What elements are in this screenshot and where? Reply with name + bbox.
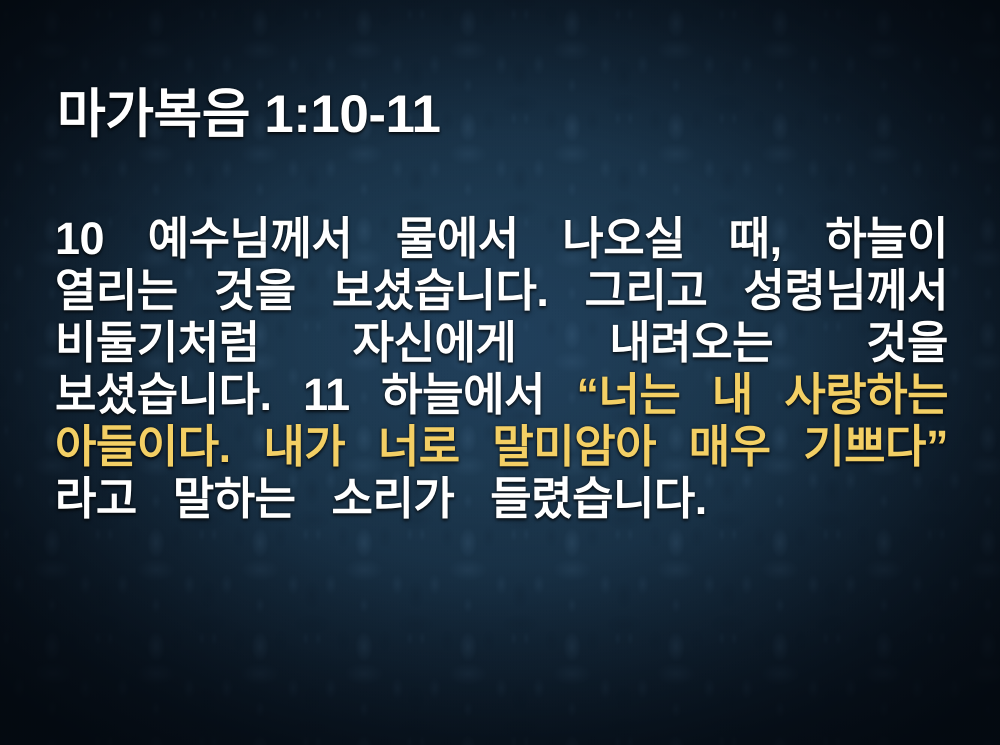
word: 열리는	[55, 265, 178, 317]
scripture-line-3: 비둘기처럼 자신에게 내려오는 것을	[55, 317, 948, 369]
word: 라고	[55, 473, 137, 525]
word: 것을	[866, 317, 948, 369]
word: 하늘에서	[381, 369, 545, 421]
word: 때,	[729, 213, 782, 265]
scripture-line-4: 보셨습니다. 11 하늘에서 “너는 내 사랑하는	[55, 369, 948, 421]
word: 성령님께서	[743, 265, 948, 317]
slide-title: 마가복음 1:10-11	[57, 87, 441, 143]
quoted-word: 매우	[689, 421, 771, 473]
scripture-line-2: 열리는 것을 보셨습니다. 그리고 성령님께서	[55, 265, 948, 317]
word: 11	[303, 369, 350, 421]
word: 10	[55, 213, 104, 265]
quoted-word: 내가	[263, 421, 345, 473]
quoted-word: 사랑하는	[784, 369, 948, 421]
scripture-line-6: 라고 말하는 소리가 들렸습니다.	[55, 473, 948, 525]
quoted-word: 기쁘다”	[803, 421, 948, 473]
scripture-line-5: 아들이다. 내가 너로 말미암아 매우 기쁘다”	[55, 421, 948, 473]
word: 내려오는	[609, 317, 773, 369]
scripture-body: 10 예수님께서 물에서 나오실 때, 하늘이 열리는 것을 보셨습니다. 그리…	[55, 213, 948, 525]
word: 나오실	[562, 213, 685, 265]
quoted-word: “너는	[576, 369, 680, 421]
word: 비둘기처럼	[55, 317, 260, 369]
word: 하늘이	[825, 213, 948, 265]
quoted-word: 아들이다.	[55, 421, 231, 473]
quoted-word: 내	[712, 369, 753, 421]
quoted-word: 말미암아	[492, 421, 656, 473]
word: 것을	[214, 265, 296, 317]
word: 보셨습니다.	[55, 369, 272, 421]
slide-content: 마가복음 1:10-11 10 예수님께서 물에서 나오실 때, 하늘이 열리는…	[0, 0, 1000, 745]
word: 자신에게	[353, 317, 517, 369]
word: 소리가	[332, 473, 455, 525]
presentation-slide: 마가복음 1:10-11 10 예수님께서 물에서 나오실 때, 하늘이 열리는…	[0, 0, 1000, 745]
word: 물에서	[396, 213, 519, 265]
quoted-word: 너로	[378, 421, 460, 473]
word: 보셨습니다.	[332, 265, 549, 317]
scripture-line-1: 10 예수님께서 물에서 나오실 때, 하늘이	[55, 213, 948, 265]
word: 말하는	[173, 473, 296, 525]
word: 예수님께서	[148, 213, 353, 265]
word: 그리고	[585, 265, 708, 317]
word: 들렸습니다.	[490, 473, 707, 525]
